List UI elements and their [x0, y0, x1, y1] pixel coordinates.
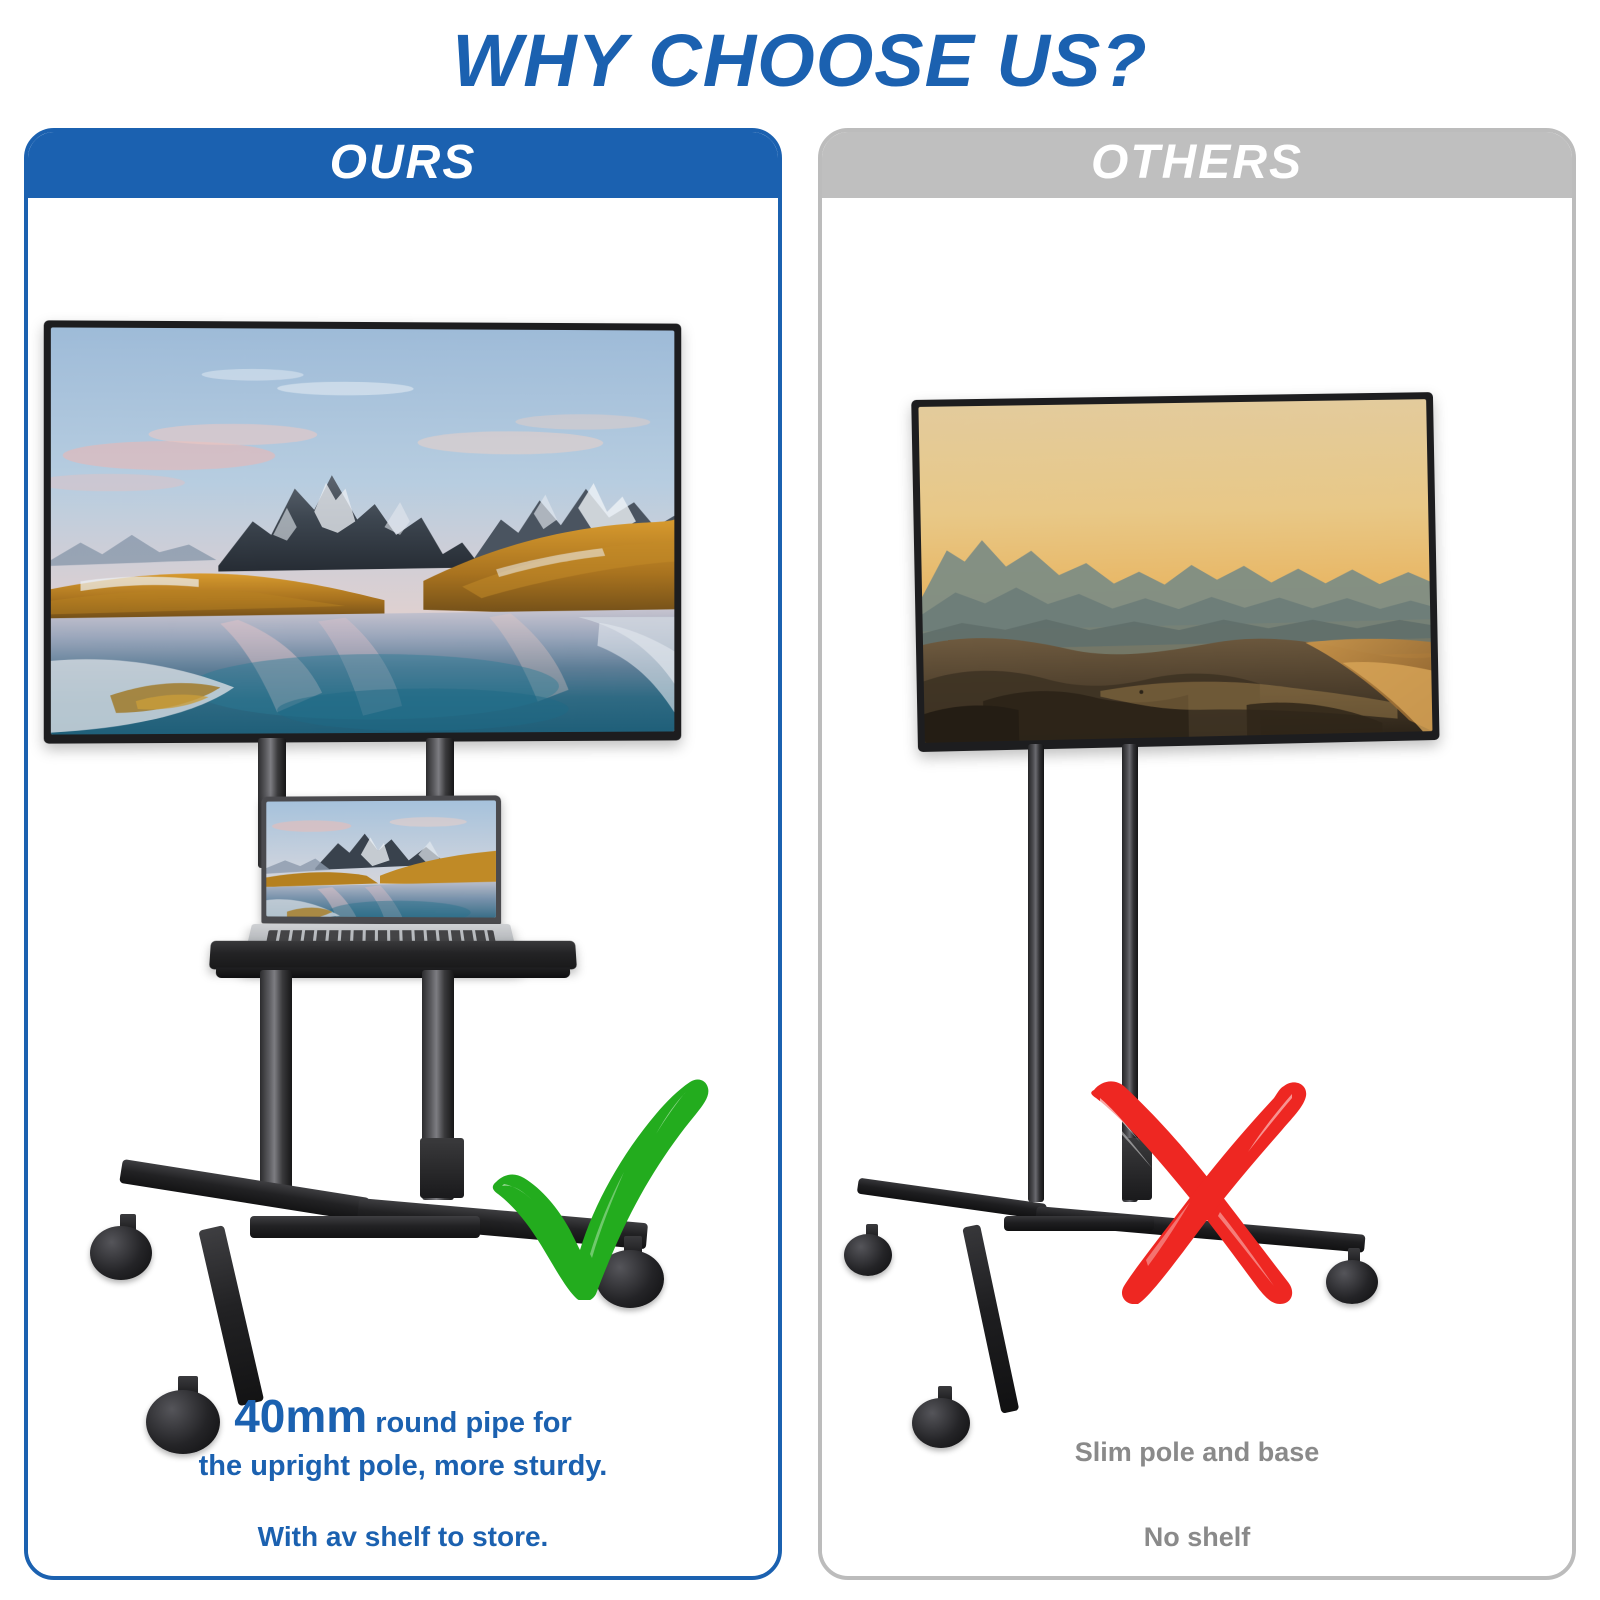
pole-bracket-ours — [420, 1138, 464, 1198]
captions-ours: 40mm round pipe for the upright pole, mo… — [28, 1386, 778, 1556]
base-beam-front-others — [962, 1224, 1019, 1414]
tv-screen-ours — [51, 327, 674, 734]
laptop-lid-ours — [261, 795, 501, 924]
panel-header-others: OTHERS — [822, 132, 1572, 198]
captions-others: Slim pole and base No shelf — [822, 1435, 1572, 1556]
red-cross-icon — [1064, 1054, 1314, 1304]
caption-line-1-rest: round pipe for — [367, 1407, 572, 1439]
av-shelf-ours — [209, 941, 577, 970]
caster-wheel-left-others — [844, 1234, 892, 1276]
laptop-mountain-lake-image — [266, 800, 496, 917]
panel-header-ours: OURS — [28, 132, 778, 198]
tv-screen-others — [918, 399, 1432, 743]
panel-body-others: Slim pole and base No shelf — [822, 198, 1572, 1574]
page-title: WHY CHOOSE US? — [0, 0, 1600, 108]
laptop-screen-ours — [266, 800, 496, 917]
caption-line-2-others: Slim pole and base — [848, 1435, 1546, 1471]
caption-line-3-ours: With av shelf to store. — [54, 1519, 752, 1556]
caption-line-1-ours: 40mm round pipe for — [54, 1386, 752, 1447]
comparison-container: OURS — [0, 128, 1600, 1580]
caption-line-3-others: No shelf — [848, 1520, 1546, 1556]
base-beam-back-left-others — [857, 1178, 1047, 1220]
lower-pole-left-ours — [260, 970, 292, 1200]
base-beam-front-ours — [198, 1225, 264, 1406]
base-beam-center-ours — [250, 1216, 480, 1238]
caption-line-2-ours: the upright pole, more sturdy. — [54, 1447, 752, 1485]
comparison-panel-ours: OURS — [24, 128, 782, 1580]
panel-body-ours: 40mm round pipe for the upright pole, mo… — [28, 198, 778, 1574]
tv-display-others — [911, 392, 1439, 752]
caster-wheel-right-others — [1326, 1260, 1378, 1304]
caption-highlight-40mm: 40mm — [234, 1390, 367, 1442]
green-check-icon — [470, 1050, 720, 1300]
mountain-lake-sunrise-landscape-image — [51, 327, 674, 734]
tv-display-ours — [44, 320, 681, 743]
caster-wheel-left-ours — [90, 1226, 152, 1280]
comparison-panel-others: OTHERS — [818, 128, 1576, 1580]
desert-dune-sunset-landscape-image — [918, 399, 1432, 743]
slim-pole-left-others — [1028, 744, 1044, 1202]
base-beam-back-left-ours — [119, 1159, 370, 1222]
